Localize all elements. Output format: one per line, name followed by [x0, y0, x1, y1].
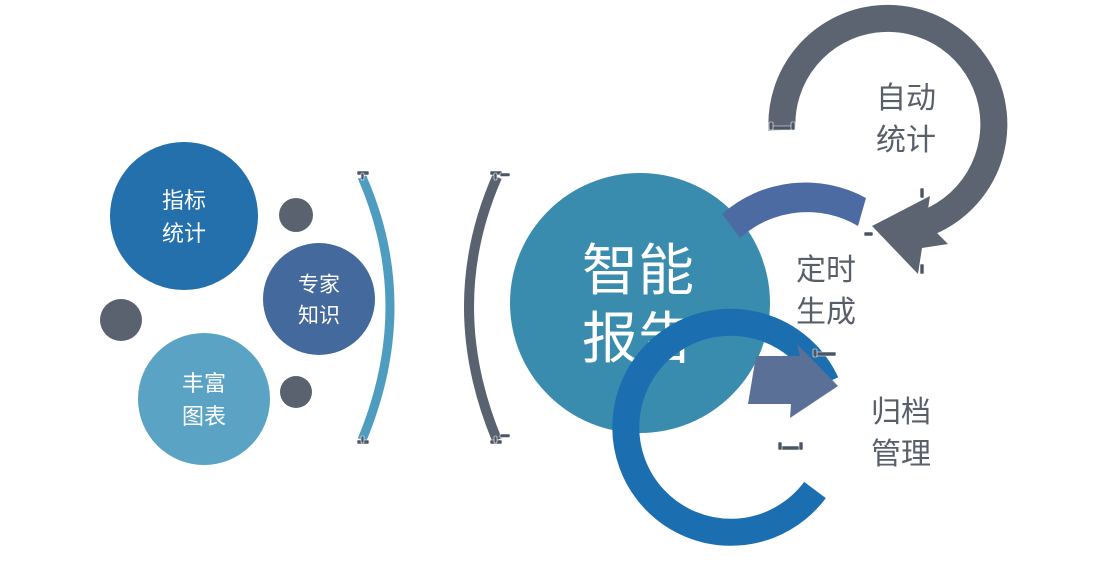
gray-dot-upper [279, 198, 313, 232]
bubble-rich-charts-label-line2: 图表 [182, 404, 226, 429]
diagram-canvas: 丰富 图表 专家 知识 指标 统计 [0, 0, 1118, 568]
handle-bottom-opening-left[interactable] [778, 442, 782, 450]
handle-bottom-left[interactable] [500, 434, 510, 438]
ring-auto-statistics-label-line2: 统计 [876, 124, 936, 157]
bubble-rich-charts[interactable]: 丰富 图表 [138, 333, 270, 465]
bracket-dark-handles[interactable] [490, 171, 502, 444]
handle-bottom-stem[interactable] [494, 436, 497, 443]
bubble-rich-charts-label-line1: 丰富 [182, 371, 226, 396]
ring-auto-statistics[interactable]: 自动 统计 [769, 18, 994, 274]
handle-top-left[interactable] [500, 173, 510, 177]
gray-dot-left [100, 299, 142, 341]
bracket-dark-left-shape [469, 177, 497, 440]
ring-auto-statistics-label-line1: 自动 [876, 82, 936, 115]
gray-dot-lower [280, 376, 312, 408]
bubble-rich-charts-shape [138, 333, 270, 465]
center-label-line1: 智能 [582, 239, 694, 302]
handle-arrow-upper[interactable] [920, 188, 924, 198]
bracket-dark-left[interactable] [469, 171, 502, 444]
arc-arrow-to-auto-statistics-shape [722, 182, 866, 238]
center-circle-handles[interactable] [500, 173, 510, 438]
timed-generation-line1: 定时 [796, 254, 856, 287]
bubble-expert-knowledge-shape [263, 243, 375, 355]
handle-bottom-opening-right[interactable] [799, 442, 803, 450]
handle-tail-right[interactable] [791, 122, 795, 130]
bubble-indicator-stats-shape [110, 142, 258, 290]
ring-archive-management-label-line2: 管理 [871, 438, 931, 471]
bubble-indicator-stats-label-line1: 指标 [162, 188, 206, 213]
handle-bottom-stem[interactable] [361, 436, 364, 443]
bubble-indicator-stats-label-line2: 统计 [162, 221, 206, 246]
handle-top-opening-left[interactable] [813, 349, 817, 357]
handle-top-stem[interactable] [361, 173, 364, 180]
bubble-indicator-stats[interactable]: 指标 统计 [110, 142, 258, 290]
bubble-expert-knowledge[interactable]: 专家 知识 [263, 243, 375, 355]
handle-top-stem[interactable] [494, 173, 497, 180]
handle-tail-left[interactable] [769, 122, 773, 130]
bubble-expert-knowledge-label-line2: 知识 [298, 305, 340, 328]
ring-archive-management-label-line1: 归档 [871, 396, 931, 429]
diagram-svg: 丰富 图表 专家 知识 指标 统计 [0, 0, 1118, 568]
arc-arrow-to-auto-statistics[interactable] [722, 182, 866, 238]
timed-generation-line2: 生成 [796, 296, 856, 329]
handle-arrow-lower[interactable] [920, 264, 924, 274]
timed-generation-label: 定时 生成 [796, 254, 856, 329]
handle-arrow-tip[interactable] [864, 232, 873, 236]
bubble-expert-knowledge-label-line1: 专家 [298, 274, 340, 297]
